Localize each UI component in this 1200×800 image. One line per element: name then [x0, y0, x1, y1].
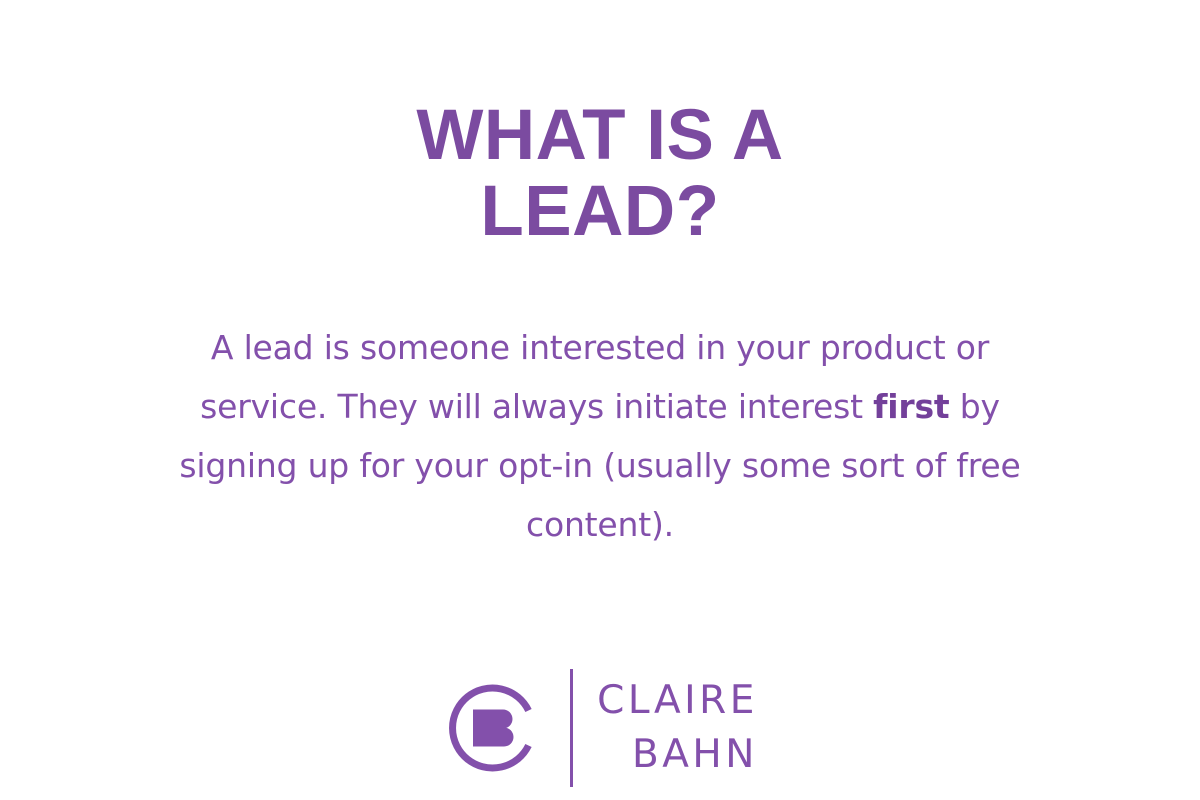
page-title-line-2: LEAD? [0, 174, 1200, 250]
brand-wordmark-line-1: CLAIRE [597, 674, 758, 728]
brand-wordmark-line-2: BAHN [597, 728, 758, 782]
body-paragraph: A lead is someone interested in your pro… [150, 318, 1050, 554]
body-paragraph-emphasis: first [873, 387, 949, 426]
logo-divider [570, 669, 573, 787]
slide-canvas: WHAT IS A LEAD? A lead is someone intere… [0, 0, 1200, 800]
cb-monogram-icon [442, 676, 546, 780]
brand-wordmark: CLAIRE BAHN [597, 674, 758, 782]
brand-logo-lockup: CLAIRE BAHN [0, 655, 1200, 800]
page-title-line-1: WHAT IS A [0, 98, 1200, 174]
body-paragraph-part-1: A lead is someone interested in your pro… [200, 328, 989, 426]
page-title: WHAT IS A LEAD? [0, 98, 1200, 250]
